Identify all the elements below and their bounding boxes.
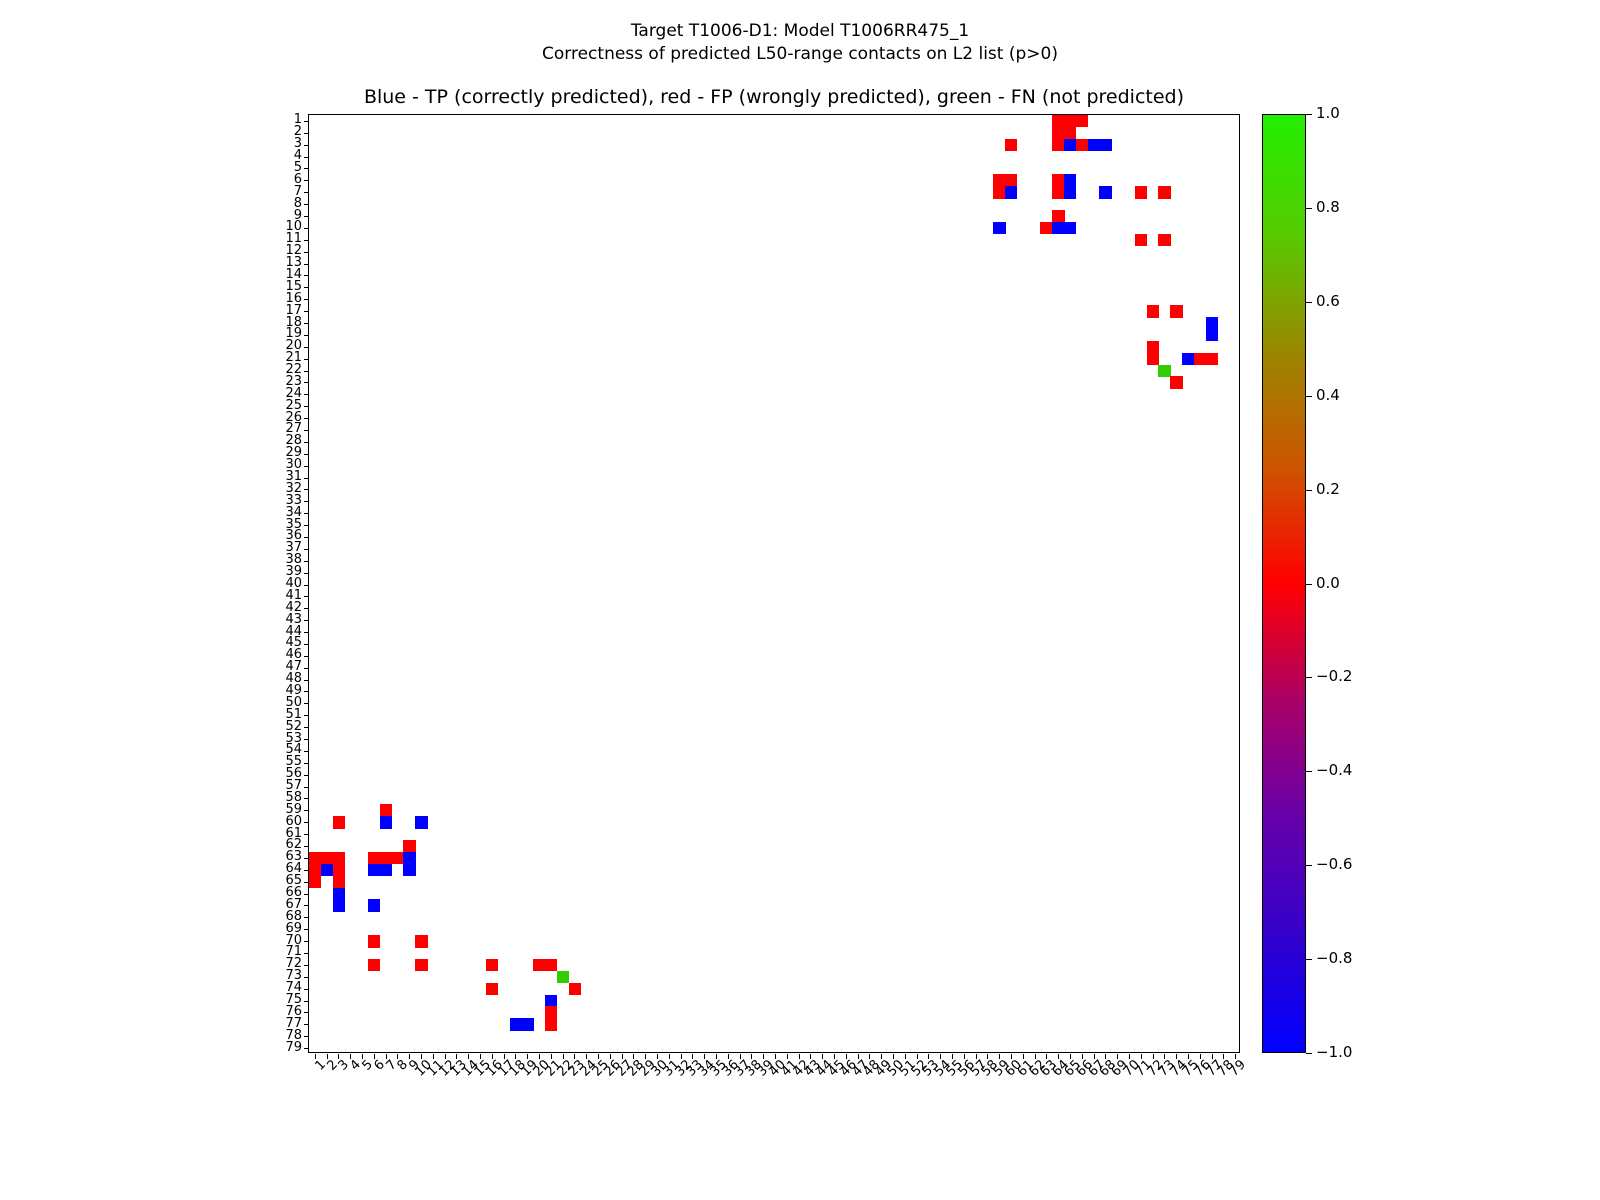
y-tick-mark xyxy=(304,216,309,217)
contact-cell-tp xyxy=(1088,139,1100,151)
y-tick-mark xyxy=(304,513,309,514)
y-tick-mark xyxy=(304,656,309,657)
colorbar-tick-mark xyxy=(1306,959,1312,960)
y-tick-mark xyxy=(304,299,309,300)
y-tick-mark xyxy=(304,442,309,443)
y-tick-mark xyxy=(304,989,309,990)
contact-cell-tp xyxy=(1182,353,1194,365)
contact-cell-tp xyxy=(380,864,392,876)
y-tick-mark xyxy=(304,882,309,883)
y-tick-mark xyxy=(304,145,309,146)
colorbar-tick-label: 0.2 xyxy=(1316,482,1340,497)
colorbar-gradient xyxy=(1262,114,1306,1053)
contact-cell-fp xyxy=(1052,115,1064,127)
colorbar-tick-labels: 1.00.80.60.40.20.0−0.2−0.4−0.6−0.8−1.0 xyxy=(1306,114,1366,1053)
y-tick-mark xyxy=(304,941,309,942)
y-tick-mark xyxy=(304,489,309,490)
contact-cell-fp xyxy=(1170,305,1182,317)
contact-cell-tp xyxy=(521,1018,533,1030)
y-tick-mark xyxy=(304,668,309,669)
colorbar-tick-mark xyxy=(1306,490,1312,491)
colorbar-tick-label: −0.2 xyxy=(1316,669,1352,684)
y-tick-mark xyxy=(304,382,309,383)
y-tick-mark xyxy=(304,965,309,966)
y-tick-mark xyxy=(304,596,309,597)
y-tick-mark xyxy=(304,228,309,229)
contact-cell-fp xyxy=(1064,115,1076,127)
contact-cell-tp xyxy=(333,899,345,911)
contact-cell-tp xyxy=(545,995,557,1007)
contact-cell-tp xyxy=(403,852,415,864)
y-tick-mark xyxy=(304,977,309,978)
contact-cell-fp xyxy=(545,1006,557,1018)
y-tick-mark xyxy=(304,834,309,835)
colorbar-tick-mark xyxy=(1306,677,1312,678)
colorbar-tick-mark xyxy=(1306,114,1312,115)
contact-cell-tp xyxy=(1206,329,1218,341)
y-tick-mark xyxy=(304,1024,309,1025)
contact-cell-fp xyxy=(1052,186,1064,198)
contact-cell-tp xyxy=(1005,186,1017,198)
contact-cell-fp xyxy=(993,174,1005,186)
y-tick-mark xyxy=(304,905,309,906)
contact-cell-fp xyxy=(368,935,380,947)
contact-cell-fp xyxy=(309,852,321,864)
y-tick-mark xyxy=(304,264,309,265)
y-tick-mark xyxy=(304,1012,309,1013)
y-tick-mark xyxy=(304,430,309,431)
y-tick-mark xyxy=(304,858,309,859)
y-tick-mark xyxy=(304,680,309,681)
y-tick-mark xyxy=(304,608,309,609)
contact-cell-fp xyxy=(309,864,321,876)
contact-cell-tp xyxy=(1064,222,1076,234)
y-tick-mark xyxy=(304,620,309,621)
colorbar-tick-label: −0.6 xyxy=(1316,857,1352,872)
figure-title-block: Target T1006-D1: Model T1006RR475_1 Corr… xyxy=(0,20,1600,66)
contact-cell-fp xyxy=(1147,305,1159,317)
y-tick-mark xyxy=(304,573,309,574)
colorbar-tick-label: 0.4 xyxy=(1316,388,1340,403)
y-tick-mark xyxy=(304,204,309,205)
contact-cell-fp xyxy=(1147,341,1159,353)
contact-cell-fp xyxy=(1064,127,1076,139)
y-axis-tick-labels: 1234567891011121314151617181920212223242… xyxy=(268,114,302,1053)
contact-cell-fp xyxy=(1076,139,1088,151)
contact-cell-fp xyxy=(1052,139,1064,151)
contact-cell-tp xyxy=(380,816,392,828)
y-tick-mark xyxy=(304,418,309,419)
y-tick-mark xyxy=(304,549,309,550)
contact-cell-fp xyxy=(545,1018,557,1030)
y-tick-mark xyxy=(304,537,309,538)
contact-cell-fn xyxy=(557,971,569,983)
y-tick-mark xyxy=(304,644,309,645)
y-tick-mark xyxy=(304,454,309,455)
contact-cell-fp xyxy=(1158,186,1170,198)
y-tick-mark xyxy=(304,311,309,312)
contact-cell-fp xyxy=(368,959,380,971)
contact-cell-fp xyxy=(392,852,404,864)
contact-cell-tp xyxy=(1099,186,1111,198)
y-tick-mark xyxy=(304,323,309,324)
y-tick-mark xyxy=(304,715,309,716)
y-tick-mark xyxy=(304,929,309,930)
y-tick-mark xyxy=(304,359,309,360)
contact-cell-fp xyxy=(1005,174,1017,186)
y-tick-mark xyxy=(304,751,309,752)
contact-cell-tp xyxy=(1064,174,1076,186)
contact-cell-fp xyxy=(1135,234,1147,246)
y-tick-mark xyxy=(304,763,309,764)
contact-cell-tp xyxy=(1052,222,1064,234)
contact-cell-fp xyxy=(533,959,545,971)
colorbar-tick-mark xyxy=(1306,1053,1312,1054)
contact-cell-fp xyxy=(1170,376,1182,388)
y-tick-mark xyxy=(304,157,309,158)
colorbar-tick-mark xyxy=(1306,396,1312,397)
y-tick-mark xyxy=(304,371,309,372)
contact-cell-tp xyxy=(510,1018,522,1030)
contact-cell-fp xyxy=(380,852,392,864)
y-tick-mark xyxy=(304,1036,309,1037)
y-tick-mark xyxy=(304,870,309,871)
y-tick-mark xyxy=(304,775,309,776)
contact-cell-fp xyxy=(321,852,333,864)
contact-cell-fp xyxy=(309,876,321,888)
contact-cell-tp xyxy=(368,864,380,876)
colorbar-tick-mark xyxy=(1306,302,1312,303)
contact-cell-fp xyxy=(1005,139,1017,151)
contact-cell-fp xyxy=(1052,210,1064,222)
contact-cell-fp xyxy=(368,852,380,864)
contact-cell-fp xyxy=(333,876,345,888)
y-tick-mark xyxy=(304,585,309,586)
y-tick-mark xyxy=(304,133,309,134)
colorbar-tick-label: −0.4 xyxy=(1316,763,1352,778)
y-tick-mark xyxy=(304,703,309,704)
y-tick-mark xyxy=(304,347,309,348)
contact-cell-tp xyxy=(415,816,427,828)
y-tick-mark xyxy=(304,252,309,253)
contact-cell-tp xyxy=(333,888,345,900)
y-tick-mark xyxy=(304,894,309,895)
y-tick-mark xyxy=(304,168,309,169)
y-tick-mark xyxy=(304,240,309,241)
y-tick-mark xyxy=(304,478,309,479)
contact-cell-fp xyxy=(1194,353,1206,365)
colorbar-tick-label: 0.0 xyxy=(1316,576,1340,591)
contact-map-cells xyxy=(309,115,1239,1052)
contact-cell-fp xyxy=(415,935,427,947)
contact-cell-tp xyxy=(1206,317,1218,329)
y-tick-mark xyxy=(304,561,309,562)
contact-cell-tp xyxy=(1099,139,1111,151)
contact-cell-fp xyxy=(333,864,345,876)
contact-cell-tp xyxy=(321,864,333,876)
y-tick-mark xyxy=(304,180,309,181)
contact-cell-fp xyxy=(415,959,427,971)
y-tick-mark xyxy=(304,501,309,502)
y-tick-mark xyxy=(304,335,309,336)
contact-cell-fp xyxy=(1052,174,1064,186)
contact-cell-fp xyxy=(1158,234,1170,246)
colorbar-tick-mark xyxy=(1306,208,1312,209)
contact-cell-tp xyxy=(403,864,415,876)
colorbar-tick-label: 1.0 xyxy=(1316,106,1340,121)
contact-cell-tp xyxy=(368,899,380,911)
colorbar-tick-mark xyxy=(1306,584,1312,585)
contact-cell-fp xyxy=(569,983,581,995)
contact-cell-fp xyxy=(333,816,345,828)
y-tick-mark xyxy=(304,810,309,811)
contact-cell-tp xyxy=(1064,139,1076,151)
contact-cell-fp xyxy=(993,186,1005,198)
figure-suptitle-line-1: Target T1006-D1: Model T1006RR475_1 xyxy=(0,20,1600,43)
contact-cell-tp xyxy=(1064,186,1076,198)
contact-cell-fp xyxy=(486,983,498,995)
y-tick-mark xyxy=(304,406,309,407)
y-tick-mark xyxy=(304,691,309,692)
contact-map-plot-area[interactable] xyxy=(308,114,1240,1053)
y-tick-mark xyxy=(304,287,309,288)
contact-cell-fp xyxy=(1040,222,1052,234)
y-tick-mark xyxy=(304,466,309,467)
y-tick-mark xyxy=(304,1001,309,1002)
y-tick-mark xyxy=(304,917,309,918)
y-tick-label: 79 xyxy=(285,1041,302,1054)
contact-cell-fp xyxy=(403,840,415,852)
contact-cell-tp xyxy=(993,222,1005,234)
contact-cell-fp xyxy=(333,852,345,864)
colorbar-tick-label: −1.0 xyxy=(1316,1045,1352,1060)
contact-cell-fp xyxy=(1206,353,1218,365)
contact-cell-fp xyxy=(486,959,498,971)
contact-cell-fp xyxy=(545,959,557,971)
y-tick-mark xyxy=(304,798,309,799)
figure-suptitle-line-2: Correctness of predicted L50-range conta… xyxy=(0,43,1600,66)
y-tick-mark xyxy=(304,192,309,193)
contact-cell-fp xyxy=(1135,186,1147,198)
contact-cell-fp xyxy=(380,804,392,816)
y-tick-mark xyxy=(304,787,309,788)
colorbar-tick-label: 0.6 xyxy=(1316,294,1340,309)
y-tick-mark xyxy=(304,727,309,728)
axes-title-legend-text: Blue - TP (correctly predicted), red - F… xyxy=(308,86,1240,108)
contact-cell-fp xyxy=(1076,115,1088,127)
y-tick-mark xyxy=(304,275,309,276)
y-tick-mark xyxy=(304,394,309,395)
y-tick-mark xyxy=(304,846,309,847)
contact-cell-fn xyxy=(1158,365,1170,377)
y-tick-mark xyxy=(304,525,309,526)
colorbar-tick-mark xyxy=(1306,771,1312,772)
contact-cell-fp xyxy=(1147,353,1159,365)
y-tick-mark xyxy=(304,739,309,740)
colorbar-tick-label: −0.8 xyxy=(1316,951,1352,966)
colorbar-tick-mark xyxy=(1306,865,1312,866)
y-tick-mark xyxy=(304,822,309,823)
y-tick-mark xyxy=(304,121,309,122)
y-tick-mark xyxy=(304,632,309,633)
contact-cell-fp xyxy=(1052,127,1064,139)
y-tick-mark xyxy=(304,1048,309,1049)
colorbar-tick-label: 0.8 xyxy=(1316,200,1340,215)
y-tick-mark xyxy=(304,953,309,954)
x-axis-tick-labels: 1234567891011121314151617181920212223242… xyxy=(308,1058,1240,1118)
